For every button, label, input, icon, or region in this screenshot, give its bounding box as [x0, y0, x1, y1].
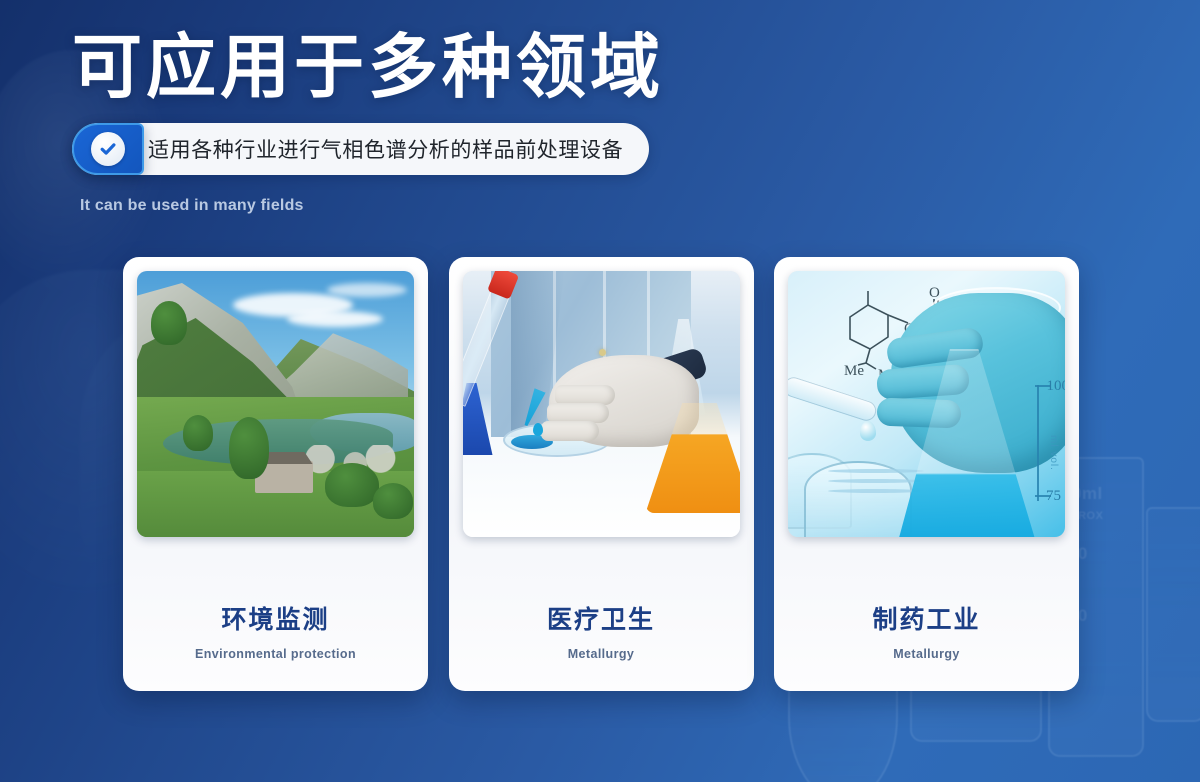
card-title-en: Metallurgy	[893, 647, 960, 661]
photo-liquid-drop	[860, 421, 876, 441]
feature-badge-pill: 适用各种行业进行气相色谱分析的样品前处理设备	[72, 123, 649, 175]
photo-finger	[555, 385, 615, 405]
card-title-en: Environmental protection	[195, 647, 356, 661]
photo-coat-button	[599, 349, 606, 356]
subtitle-english: It can be used in many fields	[80, 197, 664, 215]
chemistry-flask-photo: O O OH Me Me	[788, 271, 1065, 537]
card-environmental-protection[interactable]: 环境监测 Environmental protection	[123, 257, 428, 691]
photo-cloud	[287, 311, 383, 327]
photo-cloud	[327, 283, 407, 297]
card-medical-health[interactable]: 医疗卫生 Metallurgy	[449, 257, 754, 691]
card-title-en: Metallurgy	[568, 647, 635, 661]
watermark-cylinder	[1146, 507, 1200, 722]
photo-tree	[151, 301, 187, 345]
photo-finger	[541, 421, 599, 441]
photo-volume-text: ml vol.	[1048, 435, 1059, 471]
check-circle-inner	[91, 132, 125, 166]
photo-jar-thread	[828, 469, 924, 473]
photo-graduation-100: 100	[1047, 378, 1066, 395]
card-title-cn: 医疗卫生	[547, 600, 655, 636]
card-title-cn: 制药工业	[872, 600, 980, 636]
photo-jar-thread	[828, 479, 924, 483]
banner-stage: 200ml APPROX 150 100 50 可应用于多种领域 适用各种行业进…	[0, 0, 1200, 782]
photo-tree	[325, 463, 379, 507]
photo-finger	[547, 403, 609, 423]
photo-glass-jar	[804, 461, 912, 537]
photo-jar-thread	[828, 489, 924, 493]
card-title-cn: 环境监测	[221, 600, 329, 636]
photo-tree	[183, 415, 213, 451]
lab-pipette-photo	[463, 271, 740, 537]
photo-graduation-line	[1037, 385, 1039, 501]
card-pharmaceutical-industry[interactable]: O O OH Me Me	[774, 257, 1079, 691]
banner-header: 可应用于多种领域 适用各种行业进行气相色谱分析的样品前处理设备 It can b…	[72, 34, 664, 215]
photo-graduation-75: 75	[1046, 488, 1061, 505]
photo-liquid-drop	[533, 423, 543, 436]
page-title: 可应用于多种领域	[72, 34, 664, 104]
feature-badge: 适用各种行业进行气相色谱分析的样品前处理设备	[72, 123, 649, 175]
feature-badge-text: 适用各种行业进行气相色谱分析的样品前处理设备	[148, 134, 623, 164]
mountain-landscape-photo	[137, 271, 414, 537]
photo-tree	[373, 483, 413, 519]
photo-tree	[229, 417, 269, 479]
svg-text:Me: Me	[844, 363, 864, 379]
application-cards: 环境监测 Environmental protection	[123, 257, 1079, 691]
check-circle-icon	[72, 123, 144, 175]
